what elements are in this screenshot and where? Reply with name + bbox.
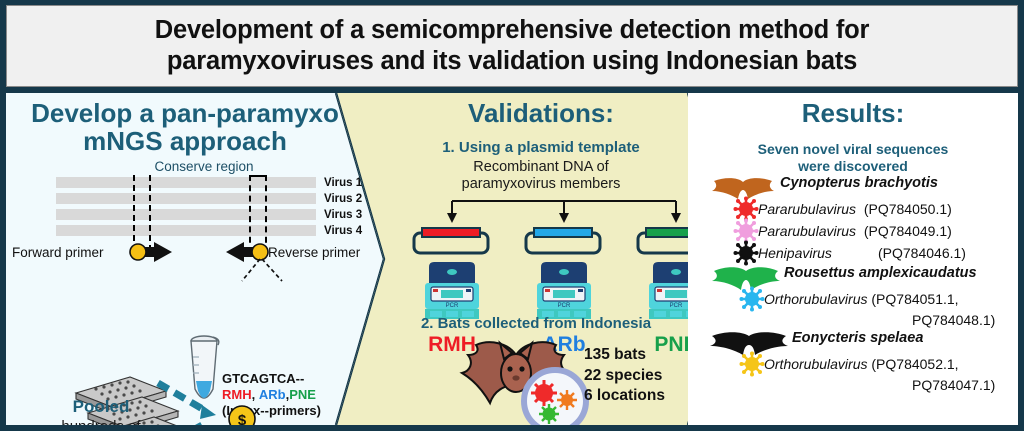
species-name-1: Cynopterus brachyotis xyxy=(780,175,938,191)
virus-entry-1-3: Henipavirus xyxy=(758,245,832,261)
results-subtitle-line-2: were discovered xyxy=(798,158,908,174)
bat-silhouette-brown-icon xyxy=(710,177,776,199)
pcr-machine-text: PCR xyxy=(446,303,459,309)
pcr-machine-text: PCR xyxy=(670,303,683,309)
bat-stat-count: 135 bats xyxy=(584,345,665,366)
results-subtitle-line-1: Seven novel viral sequences xyxy=(758,141,949,157)
virus-genus: Henipavirus xyxy=(758,245,832,261)
panels-container: Develop a pan-paramyxo mNGS approach Con… xyxy=(6,93,1018,425)
species-name-2: Rousettus amplexicaudatus xyxy=(784,265,977,281)
virus-icon-cyan xyxy=(740,287,764,311)
genome-bar xyxy=(56,177,316,188)
virus-accession: (PQ784049.1) xyxy=(864,223,952,239)
forward-primer-arrow-icon xyxy=(128,241,168,263)
virus-accession-2-1-cont: PQ784048.1) xyxy=(912,312,995,328)
virus-genus: Orthorubulavirus xyxy=(764,291,868,307)
virus-genus: Pararubulavirus xyxy=(758,223,856,239)
pooled-caption: Pooled hundreds of samples xyxy=(38,397,164,425)
virus-label: Virus 2 xyxy=(324,191,362,207)
bat-collection-stats: 135 bats 22 species 6 locations xyxy=(584,345,665,407)
middle-panel-heading: Validations: xyxy=(391,99,691,127)
right-panel-heading: Results: xyxy=(688,99,1018,127)
page-title: Development of a semicomprehensive detec… xyxy=(141,15,884,76)
index-sequence-prefix: GTCAGTCA-- xyxy=(222,371,304,386)
pooled-rest-label: hundreds of samples xyxy=(61,418,140,425)
pooled-bold-label: Pooled xyxy=(73,397,130,416)
recombinant-caption-line-1: Recombinant DNA of xyxy=(473,159,608,175)
microcentrifuge-tube-icon xyxy=(187,333,223,409)
conserve-region-label: Conserve region xyxy=(124,159,284,174)
virus-genus: Pararubulavirus xyxy=(758,201,856,217)
virus-entry-2-1: Orthorubulavirus (PQ784051.1, xyxy=(764,291,959,307)
plasmid-cassette-rmh-icon xyxy=(412,225,490,255)
virus-label-list: Virus 1 Virus 2 Virus 3 Virus 4 xyxy=(324,175,362,239)
left-heading-line-2: mNGS approach xyxy=(83,126,287,156)
panel-develop: Develop a pan-paramyxo mNGS approach Con… xyxy=(6,93,384,425)
virus-accession-1-3: (PQ784046.1) xyxy=(878,245,966,261)
virus-accession: (PQ784050.1) xyxy=(864,201,952,217)
virus-entry-1-1: Pararubulavirus (PQ784050.1) xyxy=(758,201,952,217)
svg-text:$: $ xyxy=(238,412,247,425)
virus-label: Virus 4 xyxy=(324,223,362,239)
results-subtitle: Seven novel viral sequences were discove… xyxy=(708,141,998,175)
recombinant-caption-line-2: paramyxovirus members xyxy=(462,176,621,192)
pcr-machine-text: PCR xyxy=(558,303,571,309)
validation-step-1-title: 1. Using a plasmid template xyxy=(366,139,716,156)
virus-icon-red xyxy=(734,197,758,221)
graphical-abstract: Development of a semicomprehensive detec… xyxy=(0,0,1024,431)
virus-icon-yellow xyxy=(740,352,764,376)
virus-icon-black xyxy=(734,241,758,265)
validation-step-2-title: 2. Bats collected from Indonesia xyxy=(356,315,716,332)
panel-results: Results: Seven novel viral sequences wer… xyxy=(688,93,1018,425)
recombinant-dna-caption: Recombinant DNA of paramyxovirus members xyxy=(381,159,701,194)
virus-entry-1-2: Pararubulavirus (PQ784049.1) xyxy=(758,223,952,239)
bat-stat-locations: 6 locations xyxy=(584,386,665,407)
virus-icon-pink xyxy=(734,219,758,243)
title-line-1: Development of a semicomprehensive detec… xyxy=(155,16,870,44)
virus-accession: (PQ784051.1, xyxy=(871,291,958,307)
reverse-primer-label: Reverse primer xyxy=(268,245,360,260)
genome-alignment-bars xyxy=(56,177,316,241)
virus-label: Virus 3 xyxy=(324,207,362,223)
virus-genus: Orthorubulavirus xyxy=(764,356,868,372)
virus-label: Virus 1 xyxy=(324,175,362,191)
virus-particle-green-icon xyxy=(539,404,559,424)
left-panel-heading: Develop a pan-paramyxo mNGS approach xyxy=(20,99,350,155)
genome-bar xyxy=(56,193,316,204)
virus-particle-orange-icon xyxy=(557,390,577,410)
title-bar: Development of a semicomprehensive detec… xyxy=(6,5,1018,87)
primer-index-connector-icon xyxy=(220,259,294,285)
genome-bar xyxy=(56,209,316,220)
primer-name-arb: ARb xyxy=(259,387,286,402)
title-line-2: paramyxoviruses and its validation using… xyxy=(167,47,857,75)
left-heading-line-1: Develop a pan-paramyxo xyxy=(31,98,339,128)
primer-name-pne: PNE xyxy=(289,387,316,402)
genome-bar xyxy=(56,225,316,236)
cost-cutting-icon: $ xyxy=(220,405,282,425)
forward-primer-label: Forward primer xyxy=(12,245,104,260)
forward-primer-region-marker xyxy=(133,175,151,251)
panel-validations: Validations: 1. Using a plasmid template… xyxy=(336,93,736,425)
virus-accession-3-1-cont: PQ784047.1) xyxy=(912,377,995,393)
plasmid-cassette-arb-icon xyxy=(524,225,602,255)
virus-accession: (PQ784052.1, xyxy=(871,356,958,372)
species-name-3: Eonycteris spelaea xyxy=(792,330,923,346)
bat-stat-species: 22 species xyxy=(584,366,665,387)
virus-entry-3-1: Orthorubulavirus (PQ784052.1, xyxy=(764,356,959,372)
